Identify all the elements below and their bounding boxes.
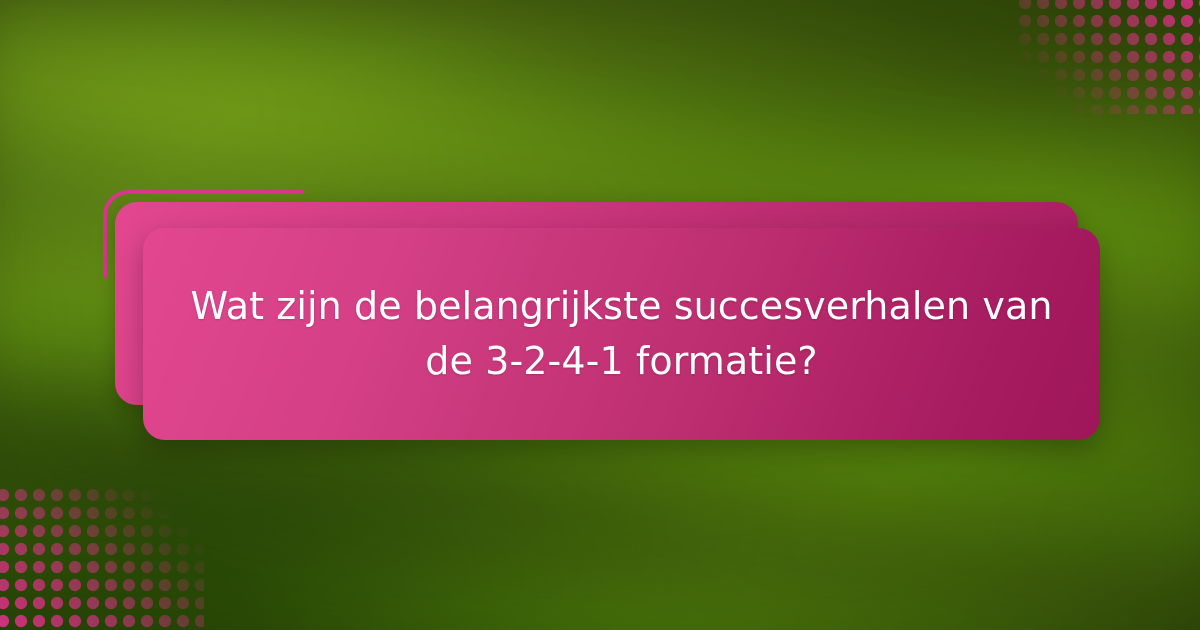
page-title: Wat zijn de belangrijkste succesverhalen… [143, 279, 1100, 389]
halftone-dots-bottom-left [0, 486, 204, 630]
headline-line-2: de 3-2-4-1 formatie? [189, 334, 1054, 389]
headline-line-1: Wat zijn de belangrijkste succesverhalen… [189, 279, 1054, 334]
social-card-canvas: Wat zijn de belangrijkste succesverhalen… [0, 0, 1200, 630]
question-card: Wat zijn de belangrijkste succesverhalen… [143, 228, 1100, 440]
halftone-dots-top-right [1016, 0, 1200, 114]
